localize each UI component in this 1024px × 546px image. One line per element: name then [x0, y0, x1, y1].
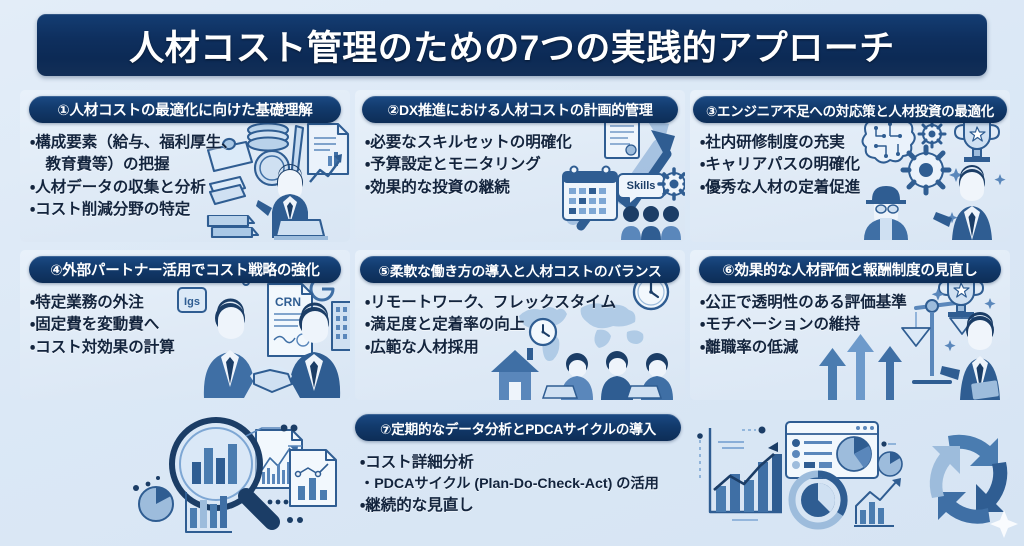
card-1-body: ・構成要素（給与、福利厚生、 教育費等）の把握 ・人材データの収集と分析 ・コス… — [20, 123, 350, 221]
card-5-header-label: ⑤柔軟な働き方の導入と人材コストのバランス — [378, 260, 661, 280]
card-7-bullet-3: ・継続的な見直し — [360, 496, 684, 516]
card-2-header: ②DX推進における人材コストの計画的管理 — [362, 96, 678, 123]
card-7-bullet-2: ・PDCAサイクル (Plan-Do-Check-Act) の活用 — [360, 475, 684, 494]
card-4-bullet-1: ・特定業務の外注 — [30, 293, 350, 313]
card-2: ②DX推進における人材コストの計画的管理 — [355, 90, 685, 242]
card-4-bullet-2: ・固定費を変動費へ — [30, 315, 350, 335]
card-3-bullet-1: ・社内研修制度の充実 — [700, 133, 1010, 153]
card-3-bullet-2: ・キャリアパスの明確化 — [700, 155, 1010, 175]
card-2-header-label: ②DX推進における人材コストの計画的管理 — [387, 100, 652, 120]
card-2-bullet-2: ・予算設定とモニタリング — [365, 155, 685, 175]
card-1-header-label: ①人材コストの最適化に向けた基礎理解 — [57, 99, 312, 120]
card-7-bullet-1: ・コスト詳細分析 — [360, 453, 684, 473]
card-5-header: ⑤柔軟な働き方の導入と人材コストのバランス — [360, 256, 680, 283]
page-title-banner: 人材コスト管理のための7つの実践的アプローチ — [37, 14, 987, 76]
card-6-header-label: ⑥効果的な人材評価と報酬制度の見直し — [722, 259, 977, 280]
card-5-bullet-3: ・広範な人材採用 — [365, 338, 685, 358]
card-3: ③エンジニア不足への対応策と人材投資の最適化 — [690, 90, 1010, 242]
card-2-body: ・必要なスキルセットの明確化 ・予算設定とモニタリング ・効果的な投資の継続 — [355, 123, 685, 198]
card-6-body: ・公正で透明性のある評価基準 ・モチベーションの維持 ・離職率の低減 — [690, 283, 1010, 358]
card-1-bullet-1: ・構成要素（給与、福利厚生、 — [30, 133, 350, 153]
card-6-header: ⑥効果的な人材評価と報酬制度の見直し — [699, 256, 1001, 283]
card-1: ①人材コストの最適化に向けた基礎理解 — [20, 90, 350, 242]
card-2-bullet-3: ・効果的な投資の継続 — [365, 178, 685, 198]
card-4-header-label: ④外部パートナー活用でコスト戦略の強化 — [50, 259, 319, 280]
card-4: ④外部パートナー活用でコスト戦略の強化 Igs — [20, 250, 350, 400]
card-4-bullet-3: ・コスト対効果の計算 — [30, 338, 350, 358]
card-5-bullet-1: ・リモートワーク、フレックスタイム — [365, 293, 685, 313]
card-1-bullet-4: ・コスト削減分野の特定 — [30, 200, 350, 220]
card-7-header: ⑦定期的なデータ分析とPDCAサイクルの導入 — [355, 414, 681, 441]
magnifier-charts-icon — [130, 412, 362, 544]
card-7-body: ・コスト詳細分析 ・PDCAサイクル (Plan-Do-Check-Act) の… — [352, 441, 684, 517]
card-3-header: ③エンジニア不足への対応策と人材投資の最適化 — [693, 96, 1007, 123]
card-4-body: ・特定業務の外注 ・固定費を変動費へ ・コスト対効果の計算 — [20, 283, 350, 358]
card-6-bullet-3: ・離職率の低減 — [700, 338, 1010, 358]
card-5-bullet-2: ・満足度と定着率の向上 — [365, 315, 685, 335]
card-6-bullet-1: ・公正で透明性のある評価基準 — [700, 293, 1010, 313]
card-4-header: ④外部パートナー活用でコスト戦略の強化 — [29, 256, 341, 283]
card-7-header-label: ⑦定期的なデータ分析とPDCAサイクルの導入 — [380, 418, 656, 438]
pdca-analytics-icon — [686, 414, 1024, 546]
card-3-header-label: ③エンジニア不足への対応策と人材投資の最適化 — [706, 100, 994, 120]
card-3-body: ・社内研修制度の充実 ・キャリアパスの明確化 ・優秀な人材の定着促進 — [690, 123, 1010, 198]
card-1-header: ①人材コストの最適化に向けた基礎理解 — [29, 96, 341, 123]
card-2-bullet-1: ・必要なスキルセットの明確化 — [365, 133, 685, 153]
card-6: ⑥効果的な人材評価と報酬制度の見直し — [690, 250, 1010, 400]
card-1-bullet-3: ・人材データの収集と分析 — [30, 178, 350, 198]
card-5: ⑤柔軟な働き方の導入と人材コストのバランス — [355, 250, 685, 400]
card-5-body: ・リモートワーク、フレックスタイム ・満足度と定着率の向上 ・広範な人材採用 — [355, 283, 685, 358]
card-1-bullet-2: 教育費等）の把握 — [30, 155, 350, 175]
card-3-bullet-3: ・優秀な人材の定着促進 — [700, 178, 1010, 198]
page-title: 人材コスト管理のための7つの実践的アプローチ — [129, 20, 894, 71]
card-6-bullet-2: ・モチベーションの維持 — [700, 315, 1010, 335]
card-7: ⑦定期的なデータ分析とPDCAサイクルの導入 ・コスト詳細分析 ・PDCAサイク… — [352, 408, 684, 544]
